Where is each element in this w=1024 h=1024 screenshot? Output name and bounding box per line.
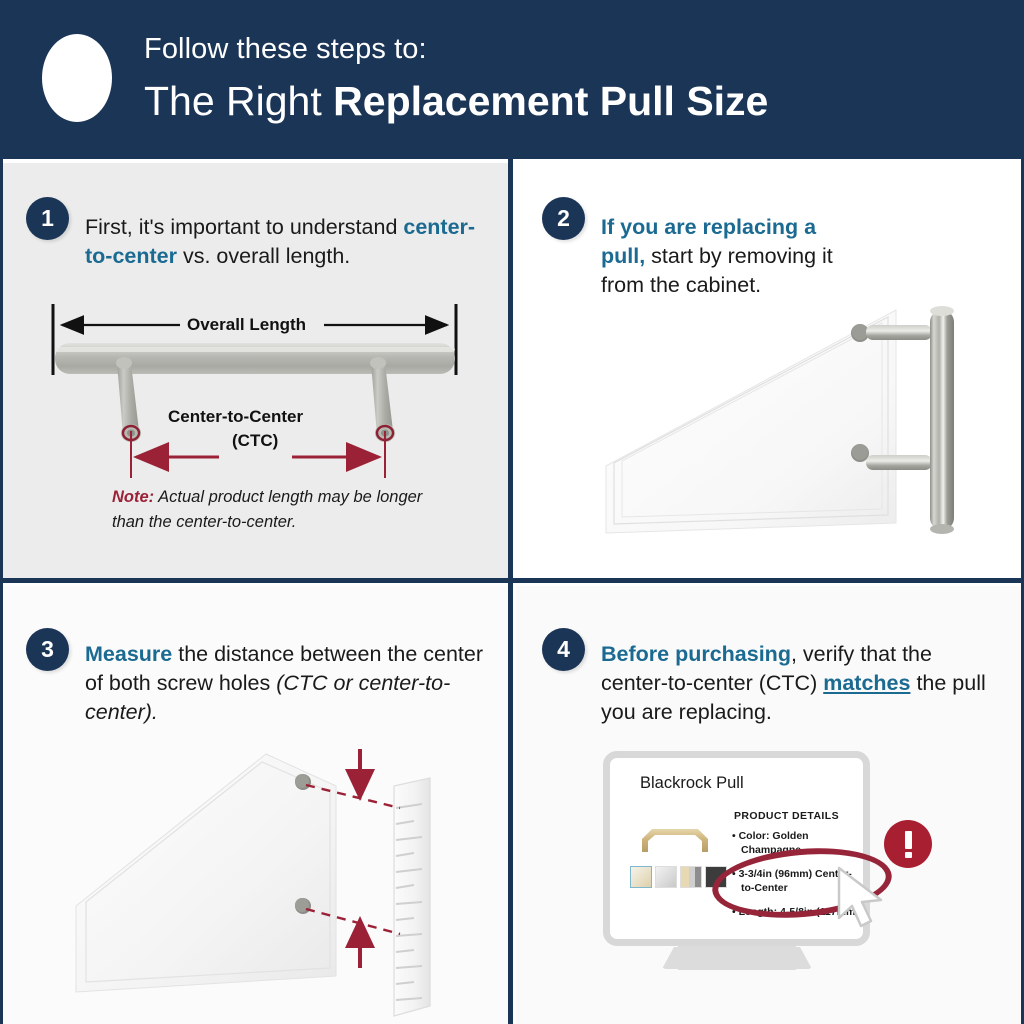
header-title-bold: Replacement Pull Size <box>333 78 768 124</box>
product-thumbnail-2[interactable] <box>655 866 677 888</box>
header-banner: Follow these steps to: The Right Replace… <box>0 0 1024 159</box>
step-1-panel: 1 First, it's important to understand ce… <box>0 163 508 578</box>
product-details-heading: PRODUCT DETAILS <box>734 810 839 822</box>
product-thumbnail-3[interactable] <box>680 866 702 888</box>
vertical-divider <box>508 159 513 1024</box>
center-to-center-label: Center-to-Center <box>168 407 303 427</box>
horizontal-divider <box>0 578 1024 583</box>
product-thumbnail-1[interactable] <box>630 866 652 888</box>
step-4-badge: 4 <box>542 628 585 671</box>
step-4-text: Before purchasing, verify that the cente… <box>601 640 1001 727</box>
product-title: Blackrock Pull <box>640 774 744 793</box>
diagram-note: Note: Actual product length may be longe… <box>112 485 442 535</box>
header-eyebrow: Follow these steps to: <box>144 33 427 66</box>
product-image <box>632 814 718 862</box>
note-body: Actual product length may be longer than… <box>112 488 422 531</box>
matches-link[interactable]: matches <box>823 671 910 695</box>
header-title-light: The Right <box>144 78 333 124</box>
ctc-abbrev-label: (CTC) <box>226 431 284 451</box>
alert-exclamation-icon <box>42 34 112 122</box>
overall-length-label: Overall Length <box>180 315 313 335</box>
step-2-panel: 2 If you are replacing a pull, start by … <box>516 163 1024 578</box>
step-3-panel: 3 Measure the distance between the cente… <box>0 586 508 1024</box>
step-4-text-bold: Before purchasing <box>601 642 791 666</box>
left-edge-border <box>0 159 3 1024</box>
step-4-number: 4 <box>557 636 570 663</box>
cabinet-door-illustration <box>516 163 1024 578</box>
alert-exclamation-badge <box>884 820 932 868</box>
infographic-page: Follow these steps to: The Right Replace… <box>0 0 1024 1024</box>
mouse-cursor-icon <box>835 866 891 934</box>
note-prefix: Note: <box>112 488 154 506</box>
header-title: The Right Replacement Pull Size <box>144 78 768 125</box>
measuring-illustration <box>0 586 508 1024</box>
